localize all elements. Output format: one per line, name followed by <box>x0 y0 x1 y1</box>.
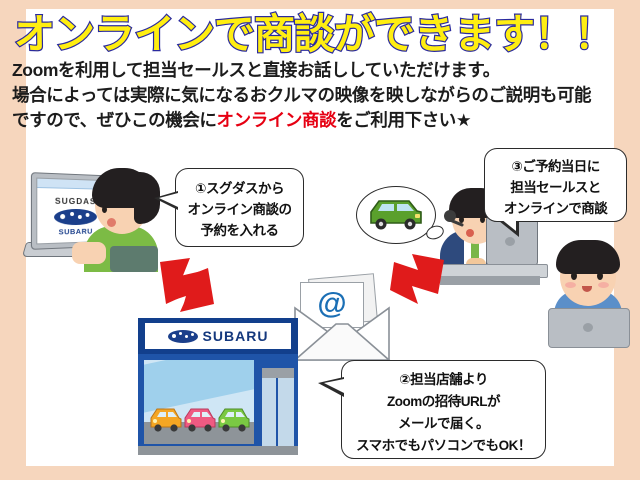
car-pink <box>185 409 215 432</box>
showroom-cars <box>148 400 252 440</box>
callout-step-2-line-3: メールで届く。 <box>342 413 545 435</box>
lead-line-1: Zoomを利用して担当セールスと直接お話ししていただけます。 <box>12 58 580 82</box>
callout-step-2-line-2: Zoomの招待URLが <box>342 391 545 413</box>
callout-step-3-tail-fill <box>501 219 516 231</box>
illustration-customer-laptop: SUGDAS SUBARU <box>22 166 157 271</box>
car-orange <box>151 409 181 432</box>
customer-eye-right <box>597 272 603 280</box>
lead-highlight-online-shodan: オンライン商談 <box>217 110 337 130</box>
callout-step-3-line-3: オンラインで商談 <box>485 198 626 219</box>
callout-step-3: ③ご予約当日に 担当セールスと オンラインで商談 <box>484 148 627 222</box>
dealership-sign-band: SUBARU <box>138 318 298 354</box>
green-car-icon <box>365 196 427 234</box>
dealership-ground <box>138 446 298 455</box>
subaru-star-logo-icon <box>168 330 198 343</box>
callout-step-1-line-2: オンライン商談の <box>176 199 303 220</box>
callout-step-3-line-1: ③ご予約当日に <box>485 156 626 177</box>
lead-line-3-b: をご利用下さい★ <box>336 110 471 130</box>
callout-step-1-line-1: ①スグダスから <box>176 178 303 199</box>
dealership-sign-plate: SUBARU <box>145 323 291 349</box>
callout-step-2-line-4: スマホでもパソコンでもOK！ <box>342 435 545 457</box>
lead-paragraph: Zoomを利用して担当セールスと直接お話ししていただけます。 場合によっては実際… <box>12 58 580 133</box>
poster-root: オンラインで商談ができます！！ Zoomを利用して担当セールスと直接お話ししてい… <box>0 0 640 480</box>
callout-step-2-tail-fill <box>324 379 344 393</box>
customer-laptop <box>548 308 630 348</box>
callout-step-1-tail-fill <box>159 193 178 207</box>
car-green <box>219 409 249 432</box>
customer-hair <box>556 240 620 274</box>
dealership-entrance <box>260 366 296 448</box>
salesman-desk-shadow <box>440 276 540 285</box>
arrow-up-right-icon <box>388 250 448 308</box>
lead-line-3-a: ですので、ぜひこの機会に <box>12 110 217 130</box>
person-eye <box>102 206 107 213</box>
illustration-customer-right <box>540 238 636 346</box>
dealership-sign-text: SUBARU <box>203 328 269 344</box>
lead-line-2: 場合によっては実際に気になるおクルマの映像を映しながらのご説明も可能 <box>12 83 580 107</box>
callout-step-1: ①スグダスから オンライン商談の 予約を入れる <box>175 168 304 247</box>
callout-step-2-line-1: ②担当店舗より <box>342 369 545 391</box>
callout-step-1-line-3: 予約を入れる <box>176 220 303 241</box>
customer-blush-left <box>565 282 576 288</box>
page-title: オンラインで商談ができます！！ <box>14 11 574 57</box>
customer-blush-right <box>598 282 609 288</box>
person-chair <box>110 246 158 272</box>
salesman-mouth <box>466 229 474 237</box>
person-mouth <box>107 218 116 227</box>
illustration-dealership: SUBARU <box>138 318 313 458</box>
subaru-logo-icon <box>54 209 97 225</box>
callout-step-3-line-2: 担当セールスと <box>485 177 626 198</box>
person-hand <box>72 242 106 264</box>
lead-line-3: ですので、ぜひこの機会にオンライン商談をご利用下さい★ <box>12 108 580 132</box>
arrow-down-right-icon <box>156 258 218 316</box>
customer-eye-left <box>571 272 577 280</box>
callout-step-2: ②担当店舗より Zoomの招待URLが メールで届く。 スマホでもパソコンでもO… <box>341 360 546 459</box>
